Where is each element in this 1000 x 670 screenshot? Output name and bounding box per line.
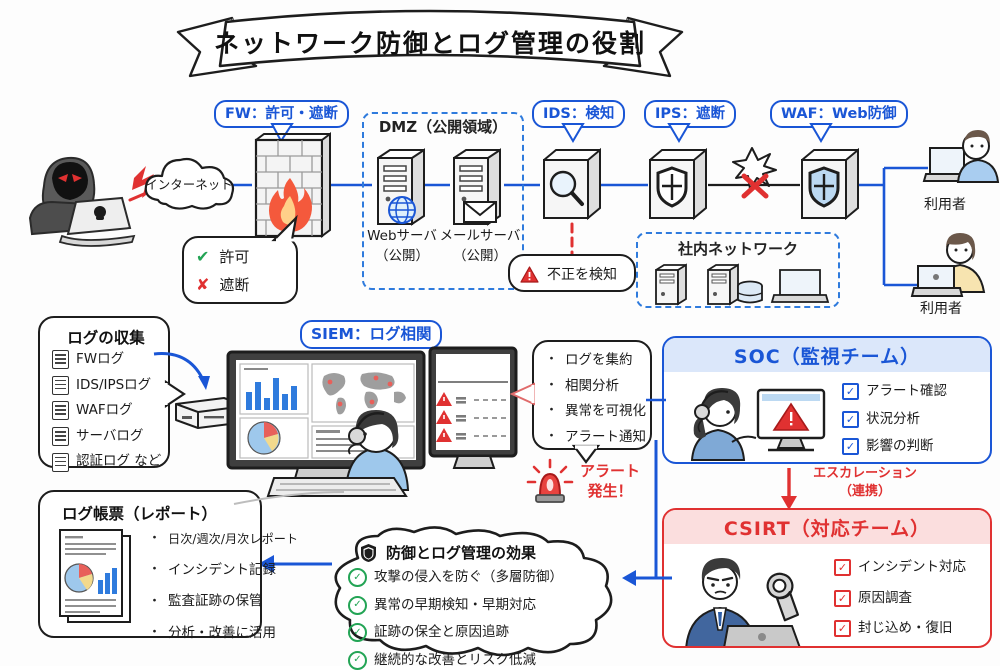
effects-item: ✓異常の早期検知・早期対応 — [348, 596, 563, 616]
waf-appliance-icon — [798, 146, 862, 228]
web-server-icon — [374, 146, 430, 228]
mail-server-label: メールサーバ — [434, 228, 526, 246]
warning-triangle-icon — [520, 266, 539, 283]
siem-functions-callout: ・ログを集約 ・相関分析 ・異常を可視化 ・アラート通知 — [532, 340, 652, 450]
fw-allow-row: ✔ 許可 — [196, 246, 249, 267]
escalation-label-2: （連携） — [800, 484, 930, 501]
siren-icon — [528, 460, 572, 504]
list-item: FWログ — [52, 350, 161, 370]
doc-icon — [52, 376, 69, 395]
user-2-label: 利用者 — [896, 300, 986, 318]
report-item: ・日次/週次/月次レポート — [148, 530, 298, 549]
tag-ips-pointer — [668, 124, 690, 142]
circle-check-icon: ✓ — [348, 596, 367, 615]
ips-appliance-icon — [646, 146, 710, 228]
siem-functions-pointer-left — [510, 382, 536, 406]
laptop-icon — [772, 270, 828, 302]
mail-server-icon — [450, 146, 506, 228]
server-icon — [656, 265, 686, 304]
internal-network-title: 社内ネットワーク — [636, 238, 840, 259]
effects-item: ✓継続的な改善とリスク低減 — [348, 651, 563, 670]
list-item: IDS/IPSログ — [52, 376, 161, 396]
effects-title: 防御とログ管理の効果 — [386, 542, 536, 563]
bullet-icon: ・ — [545, 377, 558, 396]
list-item: ・ログを集約 — [545, 351, 646, 371]
fw-policy-callout: ✔ 許可 ✘ 遮断 — [182, 236, 298, 304]
circle-check-icon: ✓ — [348, 623, 367, 642]
ids-detect-label: 不正を検知 — [547, 264, 617, 284]
soc-title: SOC（監視チーム） — [664, 338, 990, 372]
bullet-icon: ・ — [148, 593, 161, 612]
tag-waf-pointer — [810, 124, 832, 142]
soc-checklist-item[interactable]: ✓アラート確認 — [842, 382, 992, 402]
report-item: ・分析・改善に活用 — [148, 624, 298, 644]
tag-ids-pointer — [562, 124, 584, 142]
list-item: ・相関分析 — [545, 377, 646, 397]
infographic-canvas: ネットワーク防御とログ管理の役割 — [0, 0, 1000, 666]
csirt-panel[interactable]: CSIRT（対応チーム） ✓インシデント対応 ✓原因調査 ✓封じ込め・復旧 ✓再… — [662, 508, 992, 648]
bullet-icon: ・ — [545, 428, 558, 447]
shield-icon — [360, 543, 377, 563]
report-box: ログ帳票（レポート） ・日次/週次/月次レポート ・インシデント記録 ・監査証跡… — [38, 490, 262, 638]
csirt-title: CSIRT（対応チーム） — [664, 510, 990, 544]
siem-to-soc-link — [646, 392, 668, 408]
circle-check-icon: ✓ — [348, 568, 367, 587]
log-collection-title: ログの収集 — [40, 326, 172, 348]
user-1-label: 利用者 — [900, 196, 990, 214]
soc-panel[interactable]: SOC（監視チーム） ✓アラート確認 ✓状況分析 ✓影響の判断 ✓通報・エスカレ… — [662, 336, 992, 464]
report-document-icon — [54, 528, 138, 628]
fw-block-row: ✘ 遮断 — [196, 274, 249, 295]
bullet-icon: ・ — [148, 624, 161, 643]
checkbox-checked-icon[interactable]: ✓ — [834, 559, 851, 576]
alert-raised-line1: アラート — [570, 462, 650, 480]
checkbox-checked-icon[interactable]: ✓ — [842, 438, 859, 455]
checkbox-checked-icon[interactable]: ✓ — [834, 590, 851, 607]
fw-block-label: 遮断 — [219, 274, 249, 295]
doc-icon — [52, 350, 69, 369]
list-item: 認証ログ など — [52, 452, 161, 472]
soc-checklist-item[interactable]: ✓影響の判断 — [842, 437, 992, 457]
checkbox-checked-icon[interactable]: ✓ — [842, 383, 859, 400]
effects-item: ✓攻撃の侵入を防ぐ（多層防御） — [348, 568, 563, 588]
internal-network-nodes — [652, 262, 828, 306]
soc-checklist-item[interactable]: ✓状況分析 — [842, 410, 992, 430]
ids-appliance-icon — [540, 146, 604, 228]
dmz-title: DMZ（公開領域） — [362, 116, 524, 137]
user-1-icon — [928, 126, 998, 192]
cross-icon: ✘ — [196, 277, 209, 293]
list-item: サーバログ — [52, 427, 161, 447]
internet-cloud: インターネット — [140, 152, 238, 218]
fw-allow-label: 許可 — [219, 246, 249, 267]
doc-icon — [52, 453, 69, 472]
doc-icon — [52, 427, 69, 446]
soc-to-effects-link — [640, 440, 670, 580]
effects-title-row: 防御とログ管理の効果 — [360, 542, 536, 563]
checkbox-checked-icon[interactable]: ✓ — [834, 620, 851, 637]
csirt-checklist-item[interactable]: ✓原因調査 — [834, 589, 966, 609]
circle-check-icon: ✓ — [348, 651, 367, 670]
internet-label: インターネット — [140, 174, 238, 193]
list-item: ・アラート通知 — [545, 428, 646, 448]
effects-item: ✓証跡の保全と原因追跡 — [348, 623, 563, 643]
desk-line — [234, 462, 534, 508]
checkbox-checked-icon[interactable]: ✓ — [842, 411, 859, 428]
report-title: ログ帳票（レポート） — [62, 502, 217, 524]
soc-analyst-illustration — [688, 376, 838, 460]
alert-raised-line2: 発生！ — [570, 482, 650, 500]
report-item: ・監査証跡の保管 — [148, 592, 298, 612]
bullet-icon: ・ — [545, 402, 558, 421]
user-2-icon — [912, 230, 998, 302]
list-item: ・異常を可視化 — [545, 402, 646, 422]
bullet-icon: ・ — [148, 561, 161, 580]
escalation-label-1: エスカレーション — [800, 466, 930, 483]
escalation-arrow — [778, 468, 800, 512]
effects-cloud: 防御とログ管理の効果 ✓攻撃の侵入を防ぐ（多層防御） ✓異常の早期検知・早期対応… — [322, 524, 622, 664]
csirt-checklist-item[interactable]: ✓インシデント対応 — [834, 558, 966, 578]
doc-icon — [52, 401, 69, 420]
check-icon: ✔ — [196, 249, 209, 265]
ids-detect-callout: 不正を検知 — [508, 254, 636, 292]
fw-callout-pointer — [270, 216, 298, 242]
bullet-icon: ・ — [148, 530, 161, 549]
tag-waf[interactable]: WAF：Web防御 — [770, 100, 908, 128]
tag-siem[interactable]: SIEM：ログ相関 — [300, 320, 442, 349]
csirt-checklist-item[interactable]: ✓封じ込め・復旧 — [834, 619, 966, 639]
report-item: ・インシデント記録 — [148, 561, 298, 581]
list-item: WAFログ — [52, 401, 161, 421]
csirt-responder-illustration — [680, 552, 836, 648]
server-database-icon — [708, 265, 762, 304]
bullet-icon: ・ — [545, 351, 558, 370]
attacker-icon — [22, 142, 142, 252]
